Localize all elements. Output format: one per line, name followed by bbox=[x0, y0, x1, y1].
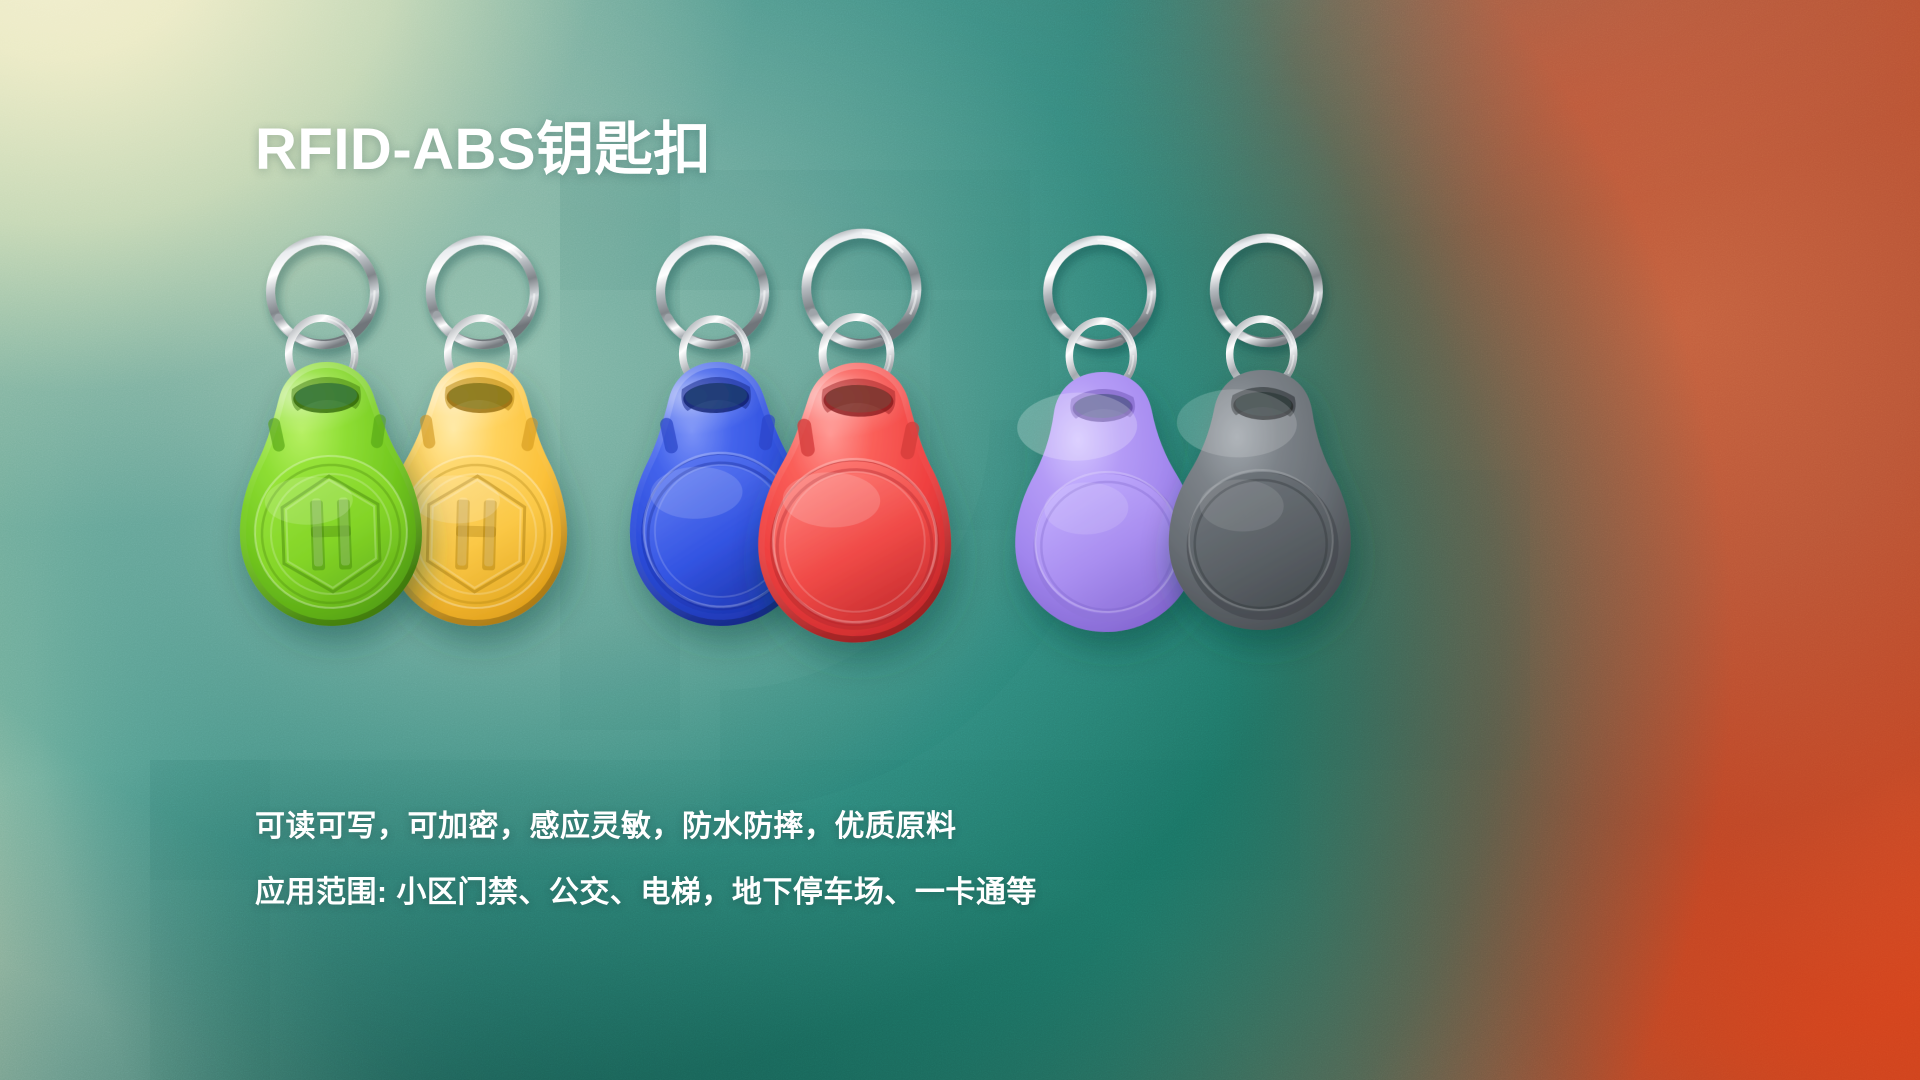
page-title: RFID-ABS钥匙扣 bbox=[255, 118, 712, 182]
product-banner: RFID-ABS钥匙扣 bbox=[0, 0, 1920, 1080]
tagline-applications: 应用范围: 小区门禁、公交、电梯，地下停车场、一卡通等 bbox=[255, 878, 1455, 908]
feature-taglines: 可读可写，可加密，感应灵敏，防水防摔，优质原料 应用范围: 小区门禁、公交、电梯… bbox=[255, 812, 1455, 908]
tagline-features: 可读可写，可加密，感应灵敏，防水防摔，优质原料 bbox=[255, 812, 1455, 842]
